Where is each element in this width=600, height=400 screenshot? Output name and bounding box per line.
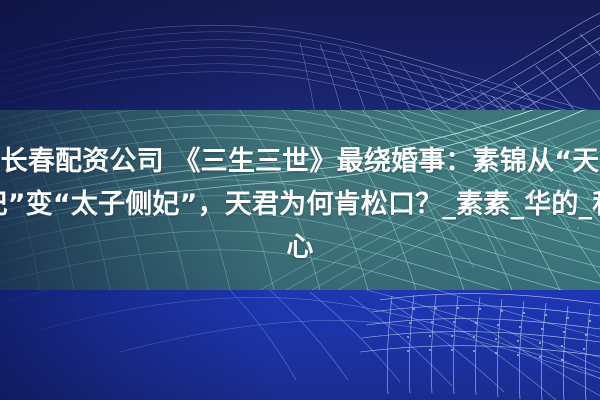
banner-image: 长春配资公司 《三生三世》最绕婚事：素锦从“天妃”变“太子侧妃”，天君为何肯松口… (0, 0, 600, 400)
teal-band (0, 110, 600, 290)
